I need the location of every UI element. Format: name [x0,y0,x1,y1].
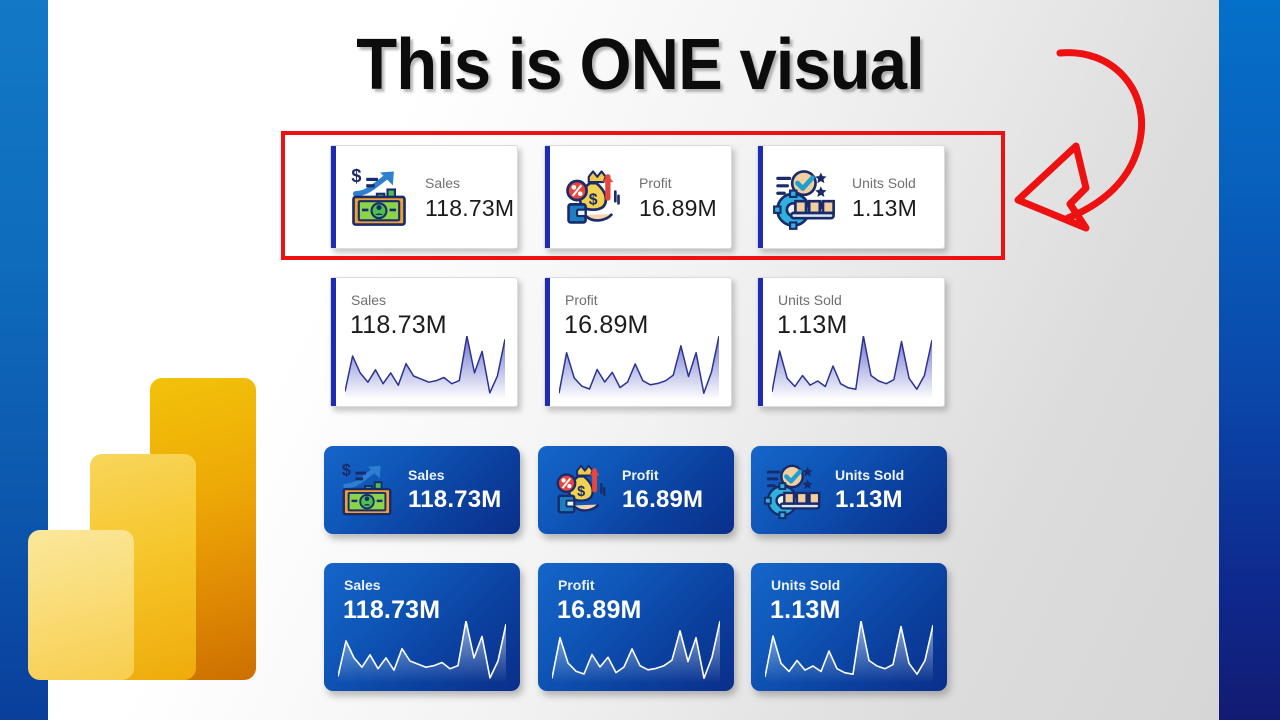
power-bi-logo [28,378,256,680]
sparkline-area [559,336,719,398]
red-highlight-box [281,131,1005,260]
kpi-label: Sales [344,577,381,593]
kpi-card-units-sold-row-spark-blue[interactable]: Units Sold1.13M [751,563,947,691]
slide-canvas: This is ONE visual $ Sales118.73M $ [0,0,1280,720]
kpi-card-profit-row-spark-light[interactable]: Profit16.89M [544,277,732,407]
kpi-label: Units Sold [778,292,842,308]
kpi-value: 16.89M [622,485,703,515]
kpi-label: Profit [565,292,598,308]
svg-text:$: $ [342,461,351,479]
kpi-card-units-sold-row-spark-light[interactable]: Units Sold1.13M [757,277,945,407]
money-bag-hand-icon: $ [550,459,612,521]
kpi-card-sales-row-spark-light[interactable]: Sales118.73M [330,277,518,407]
kpi-value: 1.13M [835,485,904,515]
kpi-label: Profit [622,465,703,485]
money-growth-icon: $ [336,459,398,521]
sparkline-chart [559,336,719,398]
sparkline-chart [552,621,720,683]
right-blue-band [1219,0,1280,720]
kpi-icon-row: $ Sales118.73M [336,446,501,534]
kpi-card-profit-row-spark-blue[interactable]: Profit16.89M [538,563,734,691]
kpi-text-column: Profit16.89M [622,465,703,515]
sparkline-chart [772,336,932,398]
curved-red-arrow [990,28,1180,233]
sparkline-area [338,621,506,683]
kpi-card-profit-row-icon-blue[interactable]: $ Profit16.89M [538,446,734,534]
sparkline-area [552,621,720,683]
logo-bar-short [28,530,134,680]
sparkline-chart [345,336,505,398]
sparkline-area [345,336,505,398]
kpi-label: Units Sold [771,577,840,593]
kpi-text-column: Units Sold1.13M [835,465,904,515]
kpi-card-sales-row-spark-blue[interactable]: Sales118.73M [324,563,520,691]
kpi-card-sales-row-icon-blue[interactable]: $ Sales118.73M [324,446,520,534]
kpi-icon-row: $ Profit16.89M [550,446,703,534]
kpi-label: Profit [558,577,595,593]
kpi-label: Sales [351,292,386,308]
kpi-text-column: Sales118.73M [408,465,501,515]
sparkline-chart [338,621,506,683]
card-accent-bar [545,278,550,406]
kpi-label: Sales [408,465,501,485]
card-accent-bar [331,278,336,406]
gear-checklist-icon [763,459,825,521]
kpi-icon-row: Units Sold1.13M [763,446,904,534]
card-accent-bar [758,278,763,406]
kpi-card-units-sold-row-icon-blue[interactable]: Units Sold1.13M [751,446,947,534]
sparkline-chart [765,621,933,683]
kpi-label: Units Sold [835,465,904,485]
kpi-value: 118.73M [408,485,501,515]
svg-text:$: $ [577,484,585,500]
